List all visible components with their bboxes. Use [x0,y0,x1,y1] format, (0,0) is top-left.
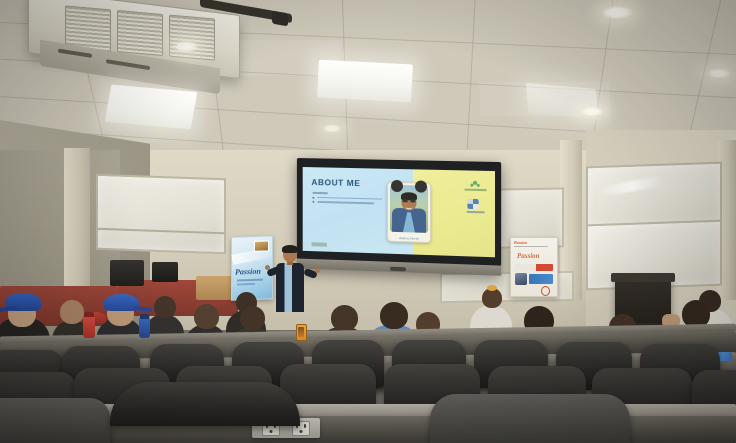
orange-phone[interactable] [296,324,307,341]
presenter [268,246,314,312]
lecture-hall-photo: ABOUT ME [0,0,736,443]
foreground-seat-right [430,394,630,443]
person-head [194,304,219,329]
person-head [380,302,408,329]
presenter-blazer [276,263,304,312]
bottle-cap [140,314,149,319]
whiteboard-right-upper [586,162,722,229]
poster-blue-bar [529,274,553,284]
person-head [240,306,265,330]
portrait-caption: Andrew Devlin [388,236,430,241]
mickey-ear-left-icon [391,180,403,192]
ceiling-panel-light [105,85,198,130]
passion-poster-right: Passion Passion [510,237,558,297]
presenter-hand-left [265,265,270,270]
screen-pull-handle[interactable] [390,267,406,272]
slide-title: ABOUT ME [311,177,360,188]
poster-word: Passion [517,252,540,260]
whiteboard-left [96,174,226,255]
person-head [154,296,176,318]
foreground-seat-left [0,398,110,443]
slide-portrait-card: Andrew Devlin [387,182,431,243]
person-head [482,288,502,308]
ceiling-downlight [579,106,605,117]
ceiling-downlight [600,5,634,20]
hair-clip [487,285,497,291]
poster-circle-accent [541,286,550,296]
ceiling-downlight [706,68,732,79]
av-speaker [110,260,144,286]
banner-photo [254,240,269,252]
foreground-seat-center [110,382,300,426]
person-head [331,305,358,331]
presenter-hair [282,245,298,253]
ceiling-downlight [322,124,342,133]
ceiling-downlight [172,40,200,53]
wall-column-left [64,148,90,308]
ceiling-panel-light [317,60,413,103]
organization-logo-icon [468,180,481,189]
blue-water-bottle [139,318,150,338]
disney-logo-text [466,211,484,213]
poster-portrait [515,273,527,285]
mickey-ear-right-icon [415,180,427,192]
glasses-icon [402,199,415,202]
projected-slide: ABOUT ME [303,167,495,257]
disney-logo-icon [467,199,478,209]
bottle-cap [84,312,94,317]
av-monitor [152,262,178,282]
banner-left-word: Passion [235,267,261,277]
poster-header: Passion [514,240,527,245]
organization-logo-text [464,189,486,191]
presenter-hand-right [315,268,320,273]
phone-screen [298,327,304,337]
person-head [60,300,84,324]
projector-head [272,11,288,27]
lectern-top [611,273,675,282]
projection-screen: ABOUT ME [297,158,501,276]
red-water-bottle [83,316,95,338]
slide-bullets [312,192,389,207]
portrait-smile [405,205,412,209]
